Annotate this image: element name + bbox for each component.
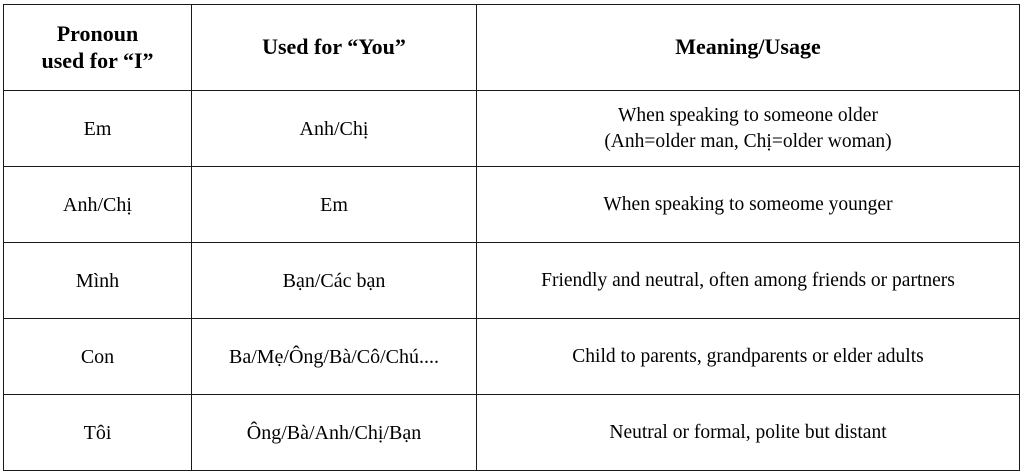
column-header-meaning-usage: Meaning/Usage bbox=[477, 5, 1020, 91]
table-row: Anh/Chị Em When speaking to someome youn… bbox=[4, 167, 1020, 243]
cell-pronoun-i: Anh/Chị bbox=[4, 167, 192, 243]
column-header-pronoun-i-line1: Pronoun bbox=[10, 21, 185, 48]
cell-meaning-line1: When speaking to someone older bbox=[483, 103, 1013, 128]
cell-pronoun-i: Tôi bbox=[4, 395, 192, 471]
vietnamese-pronoun-table: Pronoun used for “I” Used for “You” Mean… bbox=[3, 4, 1020, 471]
table-row: Em Anh/Chị When speaking to someone olde… bbox=[4, 91, 1020, 167]
cell-pronoun-you: Em bbox=[192, 167, 477, 243]
table-row: Con Ba/Mẹ/Ông/Bà/Cô/Chú.... Child to par… bbox=[4, 319, 1020, 395]
cell-meaning: When speaking to someone older (Anh=olde… bbox=[477, 91, 1020, 167]
cell-pronoun-you: Anh/Chị bbox=[192, 91, 477, 167]
cell-pronoun-you: Ông/Bà/Anh/Chị/Bạn bbox=[192, 395, 477, 471]
cell-pronoun-i: Mình bbox=[4, 243, 192, 319]
column-header-pronoun-i-line2: used for “I” bbox=[10, 48, 185, 75]
cell-meaning-line2: (Anh=older man, Chị=older woman) bbox=[483, 129, 1013, 154]
column-header-pronoun-i: Pronoun used for “I” bbox=[4, 5, 192, 91]
cell-meaning: Child to parents, grandparents or elder … bbox=[477, 319, 1020, 395]
cell-pronoun-you: Bạn/Các bạn bbox=[192, 243, 477, 319]
cell-meaning: Friendly and neutral, often among friend… bbox=[477, 243, 1020, 319]
cell-meaning: Neutral or formal, polite but distant bbox=[477, 395, 1020, 471]
table-header: Pronoun used for “I” Used for “You” Mean… bbox=[4, 5, 1020, 91]
table-row: Tôi Ông/Bà/Anh/Chị/Bạn Neutral or formal… bbox=[4, 395, 1020, 471]
column-header-pronoun-you: Used for “You” bbox=[192, 5, 477, 91]
table-row: Mình Bạn/Các bạn Friendly and neutral, o… bbox=[4, 243, 1020, 319]
table-body: Em Anh/Chị When speaking to someone olde… bbox=[4, 91, 1020, 471]
pronoun-table-container: Pronoun used for “I” Used for “You” Mean… bbox=[3, 4, 1019, 471]
cell-pronoun-you: Ba/Mẹ/Ông/Bà/Cô/Chú.... bbox=[192, 319, 477, 395]
cell-meaning: When speaking to someome younger bbox=[477, 167, 1020, 243]
cell-pronoun-i: Con bbox=[4, 319, 192, 395]
cell-pronoun-i: Em bbox=[4, 91, 192, 167]
header-row: Pronoun used for “I” Used for “You” Mean… bbox=[4, 5, 1020, 91]
